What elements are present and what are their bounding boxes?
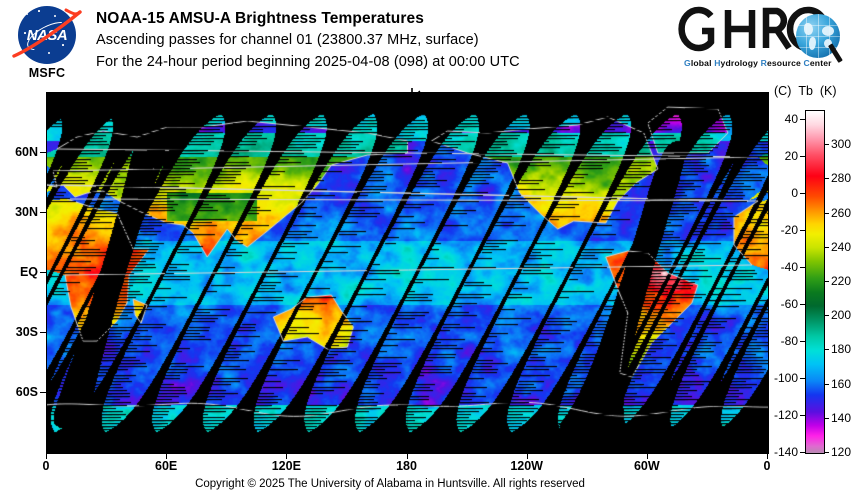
- copyright-text: Copyright © 2025 The University of Alaba…: [0, 478, 780, 490]
- colorbar-label-kelvin: 140: [831, 411, 851, 425]
- colorbar-tick-kelvin: [824, 315, 829, 316]
- colorbar-tick-celsius: [800, 267, 805, 268]
- page-period: For the 24-hour period beginning 2025-04…: [96, 52, 676, 74]
- colorbar-label-celsius: -40: [781, 260, 798, 274]
- colorbar-tick-celsius: [800, 452, 805, 453]
- colorbar-label-celsius: -80: [781, 334, 798, 348]
- colorbar-tick-kelvin: [824, 384, 829, 385]
- nasa-center-label: MSFC: [8, 66, 86, 80]
- x-tick-label: 60W: [634, 459, 660, 473]
- colorbar-label-celsius: -100: [774, 371, 798, 385]
- colorbar-label-kelvin: 200: [831, 308, 851, 322]
- y-tick: [40, 272, 46, 273]
- x-tick-label: 120E: [272, 459, 301, 473]
- y-tick: [40, 392, 46, 393]
- x-tick-label: 180: [396, 459, 417, 473]
- colorbar-tick-kelvin: [824, 178, 829, 179]
- colorbar-label-kelvin: 260: [831, 206, 851, 220]
- colorbar-label-kelvin: 220: [831, 274, 851, 288]
- colorbar-tick-celsius: [800, 415, 805, 416]
- colorbar-tick-kelvin: [824, 144, 829, 145]
- colorbar-gradient[interactable]: [805, 110, 825, 454]
- y-tick-label: 60N: [15, 145, 38, 159]
- nasa-logo: NASA MSFC: [8, 6, 86, 82]
- page-subtitle: Ascending passes for channel 01 (23800.3…: [96, 30, 676, 52]
- colorbar-label-celsius: -140: [774, 445, 798, 459]
- y-tick-label: 30N: [15, 205, 38, 219]
- y-tick-label: EQ: [20, 265, 38, 279]
- swath-start-marker-icon: [406, 88, 442, 102]
- colorbar-label-celsius: -60: [781, 297, 798, 311]
- colorbar-tick-celsius: [800, 378, 805, 379]
- x-tick-label: 0: [43, 459, 50, 473]
- colorbar-label-kelvin: 180: [831, 342, 851, 356]
- colorbar-tick-celsius: [800, 193, 805, 194]
- nasa-swoosh-icon: [10, 8, 84, 62]
- colorbar-label-celsius: 40: [785, 112, 798, 126]
- page-title: NOAA-15 AMSU-A Brightness Temperatures: [96, 8, 676, 30]
- colorbar-tick-celsius: [800, 341, 805, 342]
- colorbar-tick-celsius: [800, 156, 805, 157]
- colorbar-celsius-unit: (C): [774, 84, 791, 98]
- title-block: NOAA-15 AMSU-A Brightness Temperatures A…: [96, 8, 676, 73]
- colorbar-tick-celsius: [800, 119, 805, 120]
- colorbar-variable: Tb: [798, 84, 813, 98]
- colorbar-tick-kelvin: [824, 418, 829, 419]
- colorbar-label-kelvin: 280: [831, 171, 851, 185]
- x-tick-label: 60E: [155, 459, 177, 473]
- y-tick-label: 30S: [16, 325, 38, 339]
- y-tick: [40, 212, 46, 213]
- colorbar-kelvin-unit: (K): [820, 84, 837, 98]
- map-raster: [47, 93, 768, 453]
- colorbar-label-kelvin: 300: [831, 137, 851, 151]
- colorbar-tick-celsius: [800, 230, 805, 231]
- colorbar-label-kelvin: 160: [831, 377, 851, 391]
- ghrc-tagline: Global Hydrology Resource Center: [684, 58, 844, 68]
- x-tick-label: 0: [764, 459, 771, 473]
- colorbar-label-kelvin: 240: [831, 240, 851, 254]
- colorbar-header: (C) Tb (K): [774, 84, 837, 98]
- colorbar-label-celsius: -120: [774, 408, 798, 422]
- colorbar-tick-celsius: [800, 304, 805, 305]
- y-tick: [40, 152, 46, 153]
- colorbar-label-celsius: -20: [781, 223, 798, 237]
- colorbar-tick-kelvin: [824, 247, 829, 248]
- colorbar-label-celsius: 20: [785, 149, 798, 163]
- colorbar-tick-kelvin: [824, 349, 829, 350]
- ghrc-logo: Global Hydrology Resource Center: [678, 6, 848, 78]
- colorbar-label-kelvin: 120: [831, 445, 851, 459]
- y-tick: [40, 332, 46, 333]
- brightness-temperature-map[interactable]: [46, 92, 769, 454]
- colorbar-tick-kelvin: [824, 452, 829, 453]
- x-tick-label: 120W: [510, 459, 543, 473]
- y-tick-label: 60S: [16, 385, 38, 399]
- colorbar-label-celsius: 0: [791, 186, 798, 200]
- colorbar-tick-kelvin: [824, 213, 829, 214]
- colorbar-tick-kelvin: [824, 281, 829, 282]
